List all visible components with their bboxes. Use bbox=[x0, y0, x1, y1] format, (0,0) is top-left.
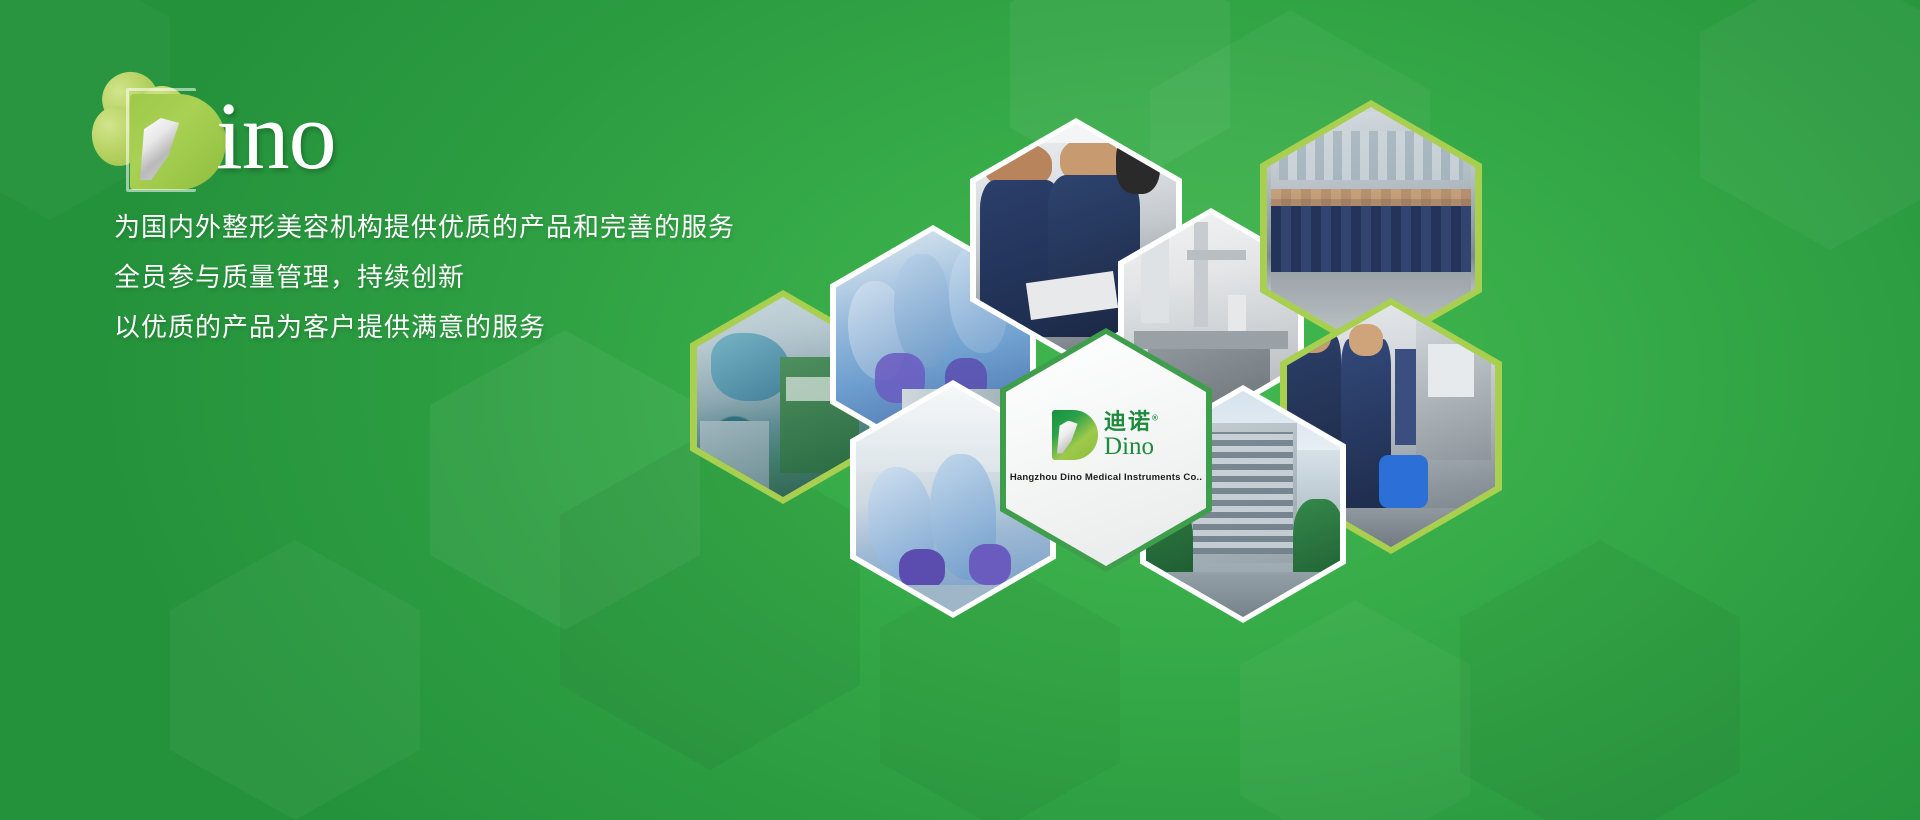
slogan-line-3: 以优质的产品为客户提供满意的服务 bbox=[114, 314, 735, 340]
center-brand-lockup: 迪诺® Dino bbox=[1052, 410, 1160, 460]
brand-name-cn: 迪诺® bbox=[1104, 411, 1160, 433]
brand-name-en: Dino bbox=[1104, 434, 1160, 459]
logo-wordmark: ino bbox=[216, 88, 336, 184]
dino-logo: ino bbox=[88, 70, 388, 190]
letter-d-mark-icon bbox=[130, 94, 226, 190]
company-full-name: Hangzhou Dino Medical Instruments Co.. bbox=[1010, 472, 1202, 483]
slogan-block: 为国内外整形美容机构提供优质的产品和完善的服务 全员参与质量管理，持续创新 以优… bbox=[114, 214, 735, 364]
background-hexagon-8 bbox=[880, 560, 1120, 820]
registered-mark: ® bbox=[1152, 413, 1160, 422]
background-hexagon-6 bbox=[1460, 540, 1740, 820]
background-hexagon-5 bbox=[170, 540, 420, 820]
background-hexagon-3 bbox=[430, 330, 700, 630]
slogan-line-2: 全员参与质量管理，持续创新 bbox=[114, 264, 735, 290]
dino-mark-icon bbox=[1052, 410, 1098, 460]
slogan-line-1: 为国内外整形美容机构提供优质的产品和完善的服务 bbox=[114, 214, 735, 240]
brand-name-cn-text: 迪诺 bbox=[1104, 409, 1152, 434]
hexagon-photo-collage: 迪诺® Dino Hangzhou Dino Medical Instrumen… bbox=[670, 100, 1900, 570]
background-hexagon-9 bbox=[1240, 600, 1470, 820]
hero-banner: ino 为国内外整形美容机构提供优质的产品和完善的服务 全员参与质量管理，持续创… bbox=[0, 0, 1920, 820]
